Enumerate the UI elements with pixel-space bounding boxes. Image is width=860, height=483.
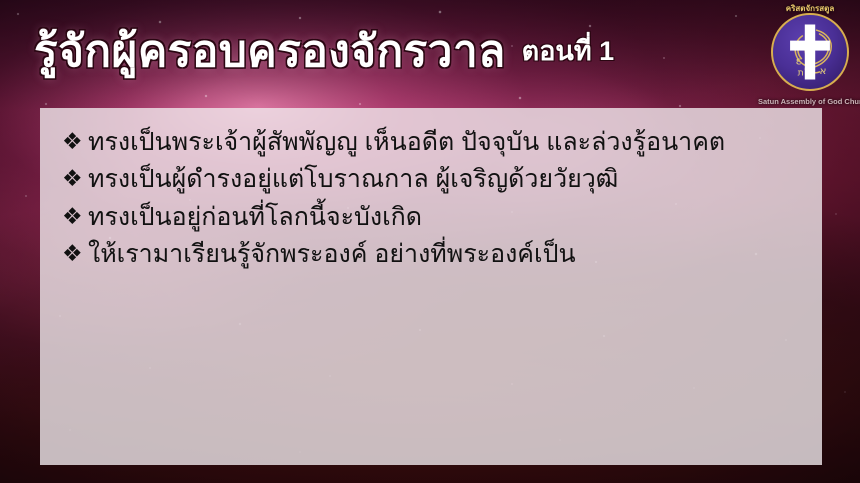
bullet-text: ทรงเป็นอยู่ก่อนที่โลกนี้จะบังเกิด	[88, 201, 796, 234]
bullet-item: ❖ ทรงเป็นอยู่ก่อนที่โลกนี้จะบังเกิด	[62, 201, 796, 234]
bullet-item: ❖ ทรงเป็นผู้ดำรงอยู่แต่โบราณกาล ผู้เจริญ…	[62, 163, 796, 196]
bullet-list: ❖ ทรงเป็นพระเจ้าผู้สัพพัญญู เห็นอดีต ปัจ…	[62, 126, 796, 271]
bullet-item: ❖ ให้เรามาเรียนรู้จักพระองค์ อย่างที่พระ…	[62, 238, 796, 271]
church-logo: คริสตจักรสตูล	[764, 2, 856, 106]
logo-letter-left: ε	[796, 55, 802, 67]
bullet-item: ❖ ทรงเป็นพระเจ้าผู้สัพพัญญู เห็นอดีต ปัจ…	[62, 126, 796, 159]
diamond-bullet-icon: ❖	[62, 163, 88, 194]
slide-subtitle-episode: ตอนที่ 1	[522, 38, 615, 67]
slide-title: รู้จักผู้ครอบครองจักรวาล	[34, 30, 506, 74]
logo-english-name: Satun Assembly of God Church	[758, 97, 860, 106]
logo-letter-right: א	[819, 65, 826, 77]
diamond-bullet-icon: ❖	[62, 126, 88, 157]
diamond-bullet-icon: ❖	[62, 238, 88, 269]
diamond-bullet-icon: ❖	[62, 201, 88, 232]
slide-title-row: รู้จักผู้ครอบครองจักรวาล ตอนที่ 1	[0, 16, 860, 88]
logo-emblem-graphic: ε א ת	[773, 15, 847, 89]
bullet-text: ทรงเป็นพระเจ้าผู้สัพพัญญู เห็นอดีต ปัจจุ…	[88, 126, 796, 159]
bullet-text: ทรงเป็นผู้ดำรงอยู่แต่โบราณกาล ผู้เจริญด้…	[88, 163, 796, 196]
content-panel: ❖ ทรงเป็นพระเจ้าผู้สัพพัญญู เห็นอดีต ปัจ…	[40, 108, 822, 465]
presentation-slide: รู้จักผู้ครอบครองจักรวาล ตอนที่ 1 คริสตจ…	[0, 0, 860, 483]
logo-emblem-circle: ε א ת	[771, 13, 849, 91]
logo-letter-center: ת	[798, 68, 804, 79]
bullet-text: ให้เรามาเรียนรู้จักพระองค์ อย่างที่พระอง…	[88, 238, 796, 271]
